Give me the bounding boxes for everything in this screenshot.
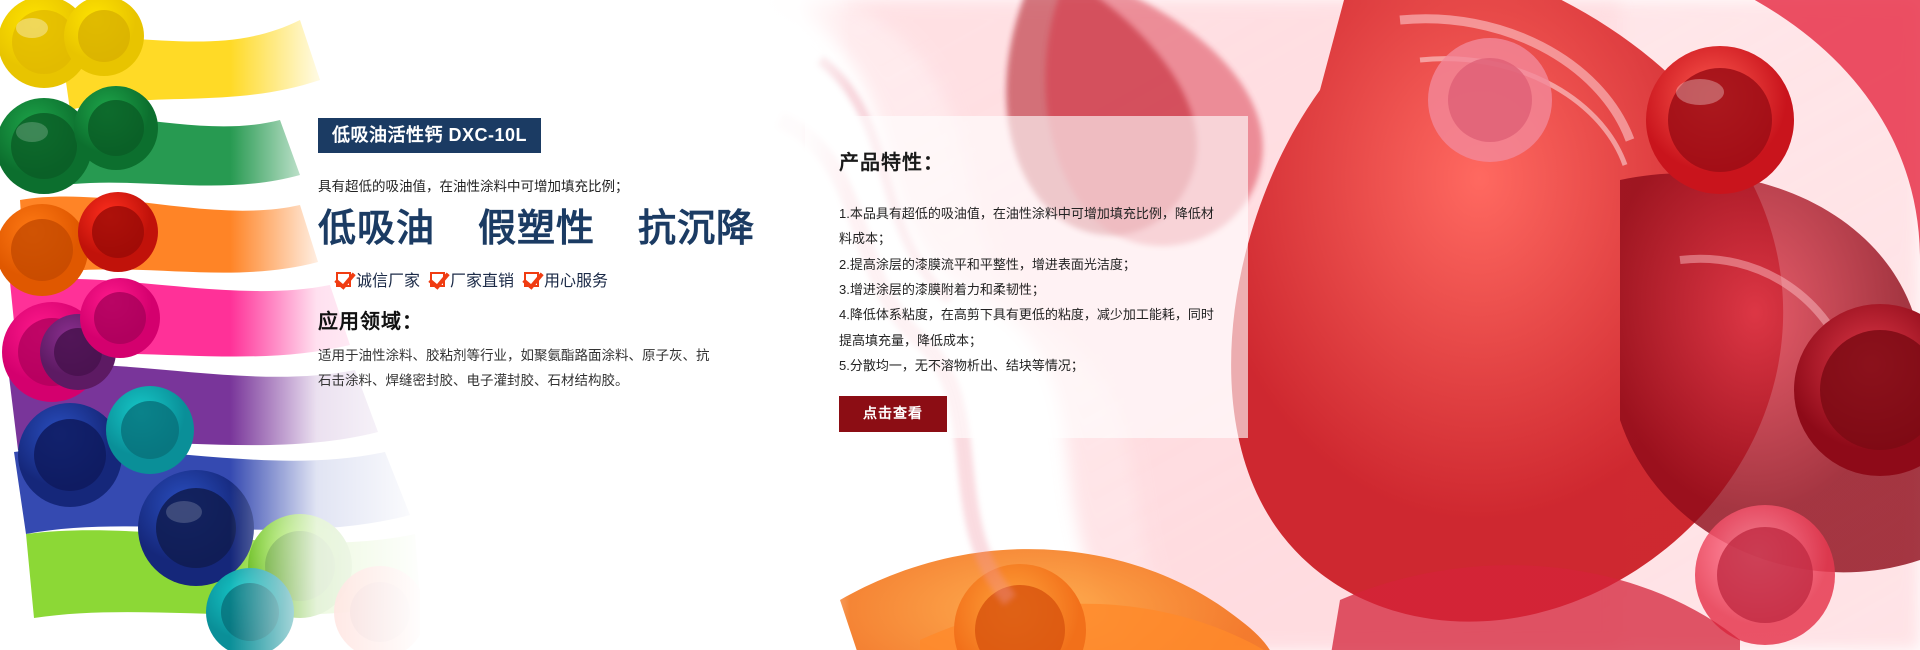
headline-word-1: 低吸油 bbox=[318, 208, 435, 250]
trust-badge-label-1: 厂家直销 bbox=[450, 267, 514, 291]
application-section-body: 适用于油性涂料、胶粘剂等行业，如聚氨酯路面涂料、原子灰、抗石击涂料、焊缝密封胶、… bbox=[318, 344, 718, 394]
trust-badge-2: 用心服务 bbox=[524, 267, 608, 291]
feature-item-2: 3.增进涂层的漆膜附着力和柔韧性； bbox=[839, 277, 1221, 302]
product-banner: 低吸油活性钙 DXC-10L 具有超低的吸油值，在油性涂料中可增加填充比例； 低… bbox=[0, 0, 1920, 650]
features-title: 产品特性： bbox=[839, 146, 1230, 175]
product-subtitle: 具有超低的吸油值，在油性涂料中可增加填充比例； bbox=[318, 177, 738, 197]
feature-item-4: 5.分散均一，无不溶物析出、结块等情况； bbox=[839, 353, 1221, 378]
trust-badge-1: 厂家直销 bbox=[430, 267, 514, 291]
features-list: 1.本品具有超低的吸油值，在油性涂料中可增加填充比例，降低材料成本； 2.提高涂… bbox=[839, 201, 1221, 378]
product-features-panel: 产品特性： 1.本品具有超低的吸油值，在油性涂料中可增加填充比例，降低材料成本；… bbox=[805, 116, 1248, 438]
feature-item-0: 1.本品具有超低的吸油值，在油性涂料中可增加填充比例，降低材料成本； bbox=[839, 201, 1221, 252]
product-title-badge: 低吸油活性钙 DXC-10L bbox=[318, 118, 541, 153]
view-details-button[interactable]: 点击查看 bbox=[839, 396, 947, 432]
trust-badge-label-2: 用心服务 bbox=[544, 267, 608, 291]
check-box-icon bbox=[430, 272, 445, 287]
check-box-icon bbox=[336, 272, 351, 287]
headline-word-2: 假塑性 bbox=[478, 208, 595, 250]
feature-item-1: 2.提高涂层的漆膜流平和平整性，增进表面光洁度； bbox=[839, 252, 1221, 277]
left-content-block: 低吸油活性钙 DXC-10L 具有超低的吸油值，在油性涂料中可增加填充比例； 低… bbox=[318, 118, 738, 394]
feature-item-3: 4.降低体系粘度，在高剪下具有更低的粘度，减少加工能耗，同时提高填充量，降低成本… bbox=[839, 302, 1221, 353]
application-section-title: 应用领域： bbox=[318, 305, 738, 334]
headline-word-3: 抗沉降 bbox=[638, 208, 755, 250]
trust-badge-0: 诚信厂家 bbox=[336, 267, 420, 291]
check-box-icon bbox=[524, 272, 539, 287]
trust-badge-list: 诚信厂家 厂家直销 用心服务 bbox=[336, 267, 738, 291]
product-features-panel-inner: 产品特性： 1.本品具有超低的吸油值，在油性涂料中可增加填充比例，降低材料成本；… bbox=[839, 146, 1230, 424]
trust-badge-label-0: 诚信厂家 bbox=[356, 267, 420, 291]
product-headline: 低吸油 假塑性 抗沉降 bbox=[318, 209, 738, 251]
